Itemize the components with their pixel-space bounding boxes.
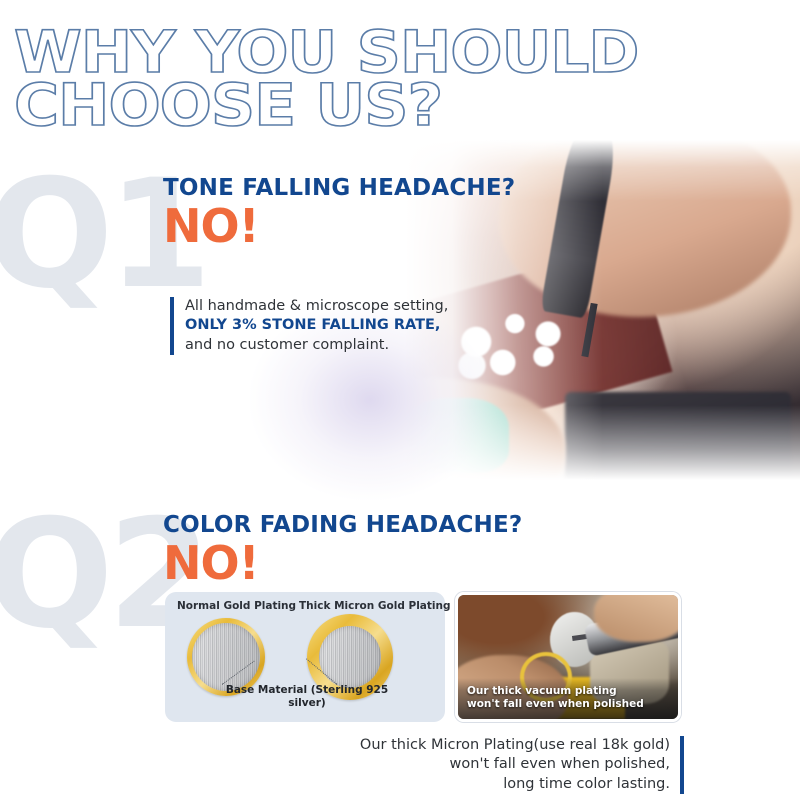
thick-plating-label: Thick Micron Gold Plating (299, 600, 451, 612)
q1-body-line-1: All handmade & microscope setting, (185, 297, 448, 316)
hand-right (594, 592, 681, 642)
q1-body-line-2: ONLY 3% STONE FALLING RATE, (185, 316, 448, 335)
normal-plating-label: Normal Gold Plating (177, 600, 296, 612)
q1-accent-bar (170, 297, 174, 355)
q2-accent-bar (680, 736, 684, 794)
q1-body-text: All handmade & microscope setting, ONLY … (185, 297, 448, 355)
q2-question-heading: COLOR FADING HEADACHE? (163, 512, 522, 538)
q1-question-heading: TONE FALLING HEADACHE? (163, 175, 515, 201)
caption-overlay: Our thick vacuum plating won't fall even… (458, 678, 678, 719)
q2-answer: NO! (163, 540, 259, 586)
q2-bottom-note-text: Our thick Micron Plating(use real 18k go… (360, 736, 670, 794)
base-material-label: Base Material (Sterling 925 silver) (222, 684, 392, 709)
polishing-photo-caption: Our thick vacuum plating won't fall even… (467, 685, 678, 711)
q1-body-line-3: and no customer complaint. (185, 336, 448, 355)
q1-answer: NO! (163, 203, 259, 249)
plating-comparison-diagram: Normal Gold Plating Thick Micron Gold Pl… (165, 592, 445, 722)
page-title: WHY YOU SHOULD CHOOSE US? (14, 26, 777, 133)
infographic-page: WHY YOU SHOULD CHOOSE US? Q1 TONE FALLIN… (0, 0, 800, 800)
q2-bottom-note: Our thick Micron Plating(use real 18k go… (360, 736, 684, 794)
q1-body-block: All handmade & microscope setting, ONLY … (170, 297, 448, 355)
polishing-photo: Our thick vacuum plating won't fall even… (455, 592, 681, 722)
